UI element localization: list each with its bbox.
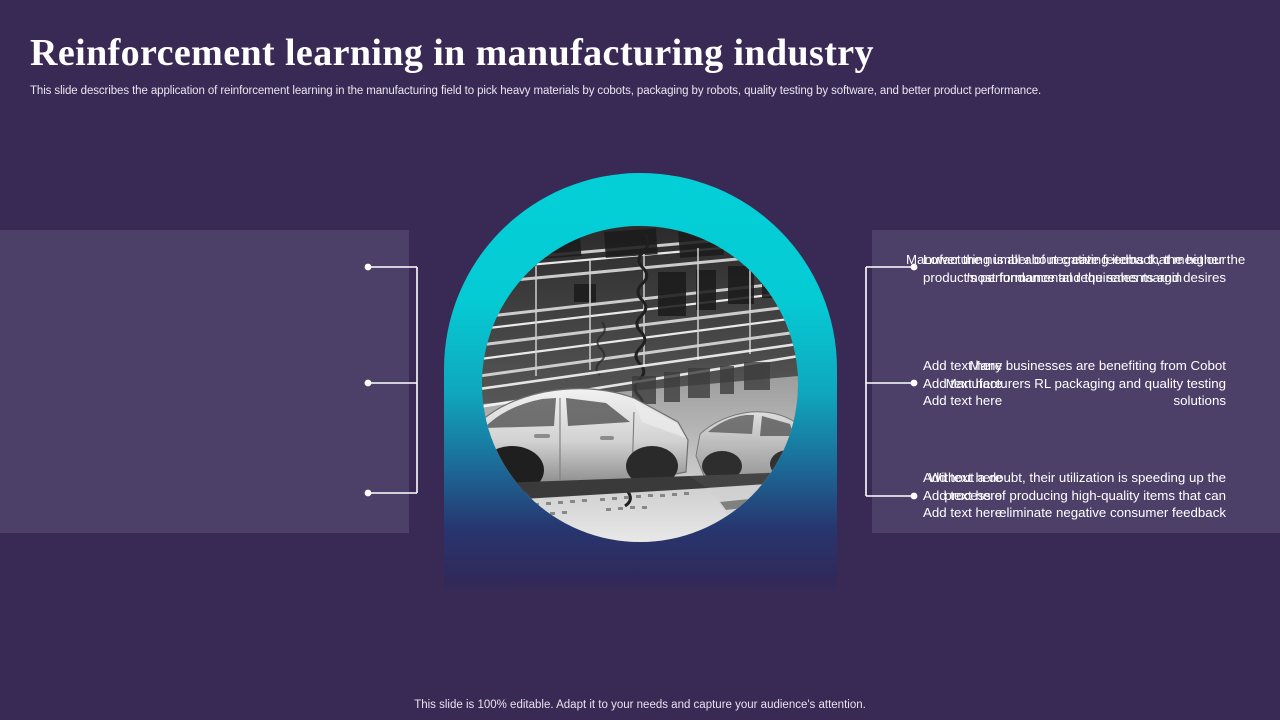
right-point-3-line-2: Add text here [923, 487, 1263, 505]
right-point-2[interactable]: Add text here Add text here Add text her… [923, 357, 1263, 410]
right-point-1-line-1: Lower the number of negative feedback, t… [923, 251, 1263, 286]
left-content-panel [0, 230, 409, 533]
slide-canvas: Reinforcement learning in manufacturing … [0, 0, 1280, 720]
right-point-3-line-3: Add text here [923, 504, 1263, 522]
right-point-1[interactable]: Lower the number of negative feedback, t… [923, 251, 1263, 286]
right-point-3[interactable]: Add text here Add text here Add text her… [923, 469, 1263, 522]
page-title: Reinforcement learning in manufacturing … [30, 31, 874, 75]
footer-note: This slide is 100% editable. Adapt it to… [0, 699, 1280, 711]
factory-photo [482, 226, 798, 542]
right-point-2-line-2: Add text here [923, 375, 1263, 393]
right-point-2-line-1: Add text here [923, 357, 1263, 375]
right-point-2-line-3: Add text here [923, 392, 1263, 410]
page-subtitle: This slide describes the application of … [30, 85, 1041, 97]
center-graphic [444, 173, 837, 596]
right-point-3-line-1: Add text here [923, 469, 1263, 487]
